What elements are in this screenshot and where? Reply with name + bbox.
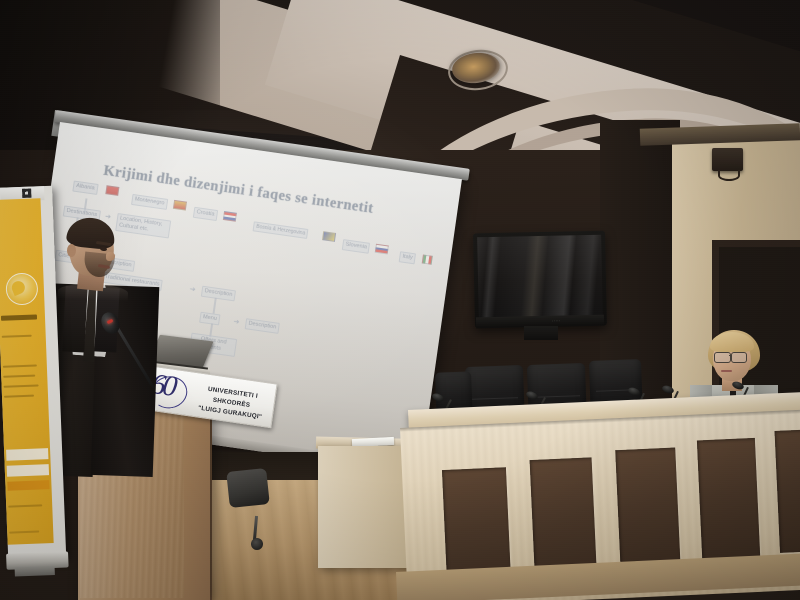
slide-node-bosnia: Bosnia & Herzegovina xyxy=(252,221,308,239)
desk-inset-panel xyxy=(615,448,681,577)
tv-screen xyxy=(477,235,603,320)
slide-node-albania: Albania xyxy=(72,181,98,195)
slide-node-description-3: Description xyxy=(245,318,280,334)
flag-albania-icon xyxy=(105,185,119,196)
banner-info-box xyxy=(7,464,49,477)
slide-node-croatia: Croatia xyxy=(193,207,218,221)
eyeglasses-icon xyxy=(731,352,747,363)
desk-inset-panel xyxy=(775,428,800,552)
slide-title: Krijimi dhe dizenjimi i faqes se interne… xyxy=(102,163,431,226)
banner-info-box xyxy=(6,448,48,461)
slide-node-italy: Italy xyxy=(399,251,417,264)
chair-under-table[interactable] xyxy=(226,468,270,508)
speaker-bracket xyxy=(718,170,740,181)
slide-node-slovenia: Slovenia xyxy=(342,239,371,254)
banner-date-box xyxy=(7,480,49,491)
arrow-right-icon-7: ➔ xyxy=(233,318,240,326)
arrow-right-icon: ➔ xyxy=(105,213,112,221)
eyeglasses-icon xyxy=(714,352,731,363)
flag-croatia-icon xyxy=(223,211,237,222)
slide-node-description-2: Description xyxy=(201,286,236,302)
tv-wall-mount xyxy=(524,326,558,340)
desk-inset-panel xyxy=(697,438,761,565)
eyeglasses-bridge xyxy=(729,355,732,356)
flag-slovenia-icon xyxy=(375,244,389,255)
loudspeaker-icon xyxy=(712,148,743,171)
chair-seam xyxy=(534,395,580,398)
chair-caster-icon xyxy=(251,538,263,550)
flag-bosnia-icon xyxy=(322,231,336,242)
conference-hall-photo: ····· Krijimi dhe dizenjimi i faqes se i… xyxy=(0,0,800,600)
chair-seam xyxy=(472,397,518,400)
arrow-right-icon-4: ➔ xyxy=(189,286,196,294)
qr-code-icon xyxy=(22,189,31,198)
ear xyxy=(67,244,76,257)
flag-montenegro-icon xyxy=(173,200,187,211)
slide-node-montenegro: Montenegro xyxy=(131,194,168,210)
banner-foot xyxy=(15,566,55,577)
slide-connector-menu xyxy=(213,298,217,314)
flag-italy-icon xyxy=(422,254,433,264)
slide-node-menu: Menu xyxy=(199,312,220,326)
podium-sign-text: UNIVERSITETI I SHKODRËS "LUIGJ GURAKUQI" xyxy=(189,383,274,424)
tv-brand-label: ····· xyxy=(552,318,561,323)
